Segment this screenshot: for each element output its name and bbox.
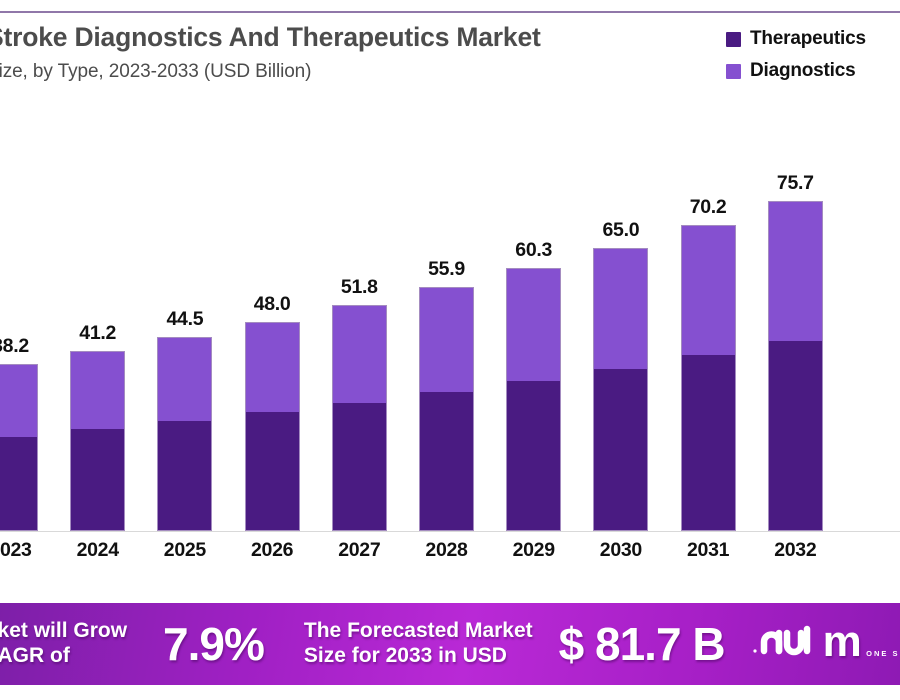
bar-value-label: 70.2	[690, 196, 727, 219]
bar-value-label: 48.0	[254, 293, 291, 316]
summary-banner: The Market will Grow At the CAGR of 7.9%…	[0, 603, 900, 685]
bar-value-label: 51.8	[341, 276, 378, 299]
bar-group[interactable]: 55.9	[419, 253, 474, 531]
cagr-caption: The Market will Grow At the CAGR of	[0, 619, 127, 669]
bar-segment-diagnostics[interactable]	[0, 365, 37, 436]
bar-stack[interactable]	[0, 364, 38, 531]
forecast-caption-line-1: The Forecasted Market	[304, 619, 533, 644]
bar-value-label: 65.0	[603, 219, 640, 242]
bar-stack[interactable]	[768, 201, 823, 531]
bar-segment-therapeutics[interactable]	[0, 437, 37, 530]
bar-stack[interactable]	[506, 268, 561, 531]
forecast-caption-line-2: Size for 2033 in USD	[304, 644, 533, 669]
brand-word-text: m	[823, 617, 862, 666]
x-axis-tick-2026: 2026	[245, 539, 300, 562]
x-axis-tick-2023: 2023	[0, 539, 38, 562]
infographic-root: Stroke Diagnostics And Therapeutics Mark…	[0, 0, 900, 700]
cagr-block: The Market will Grow At the CAGR of 7.9%	[0, 617, 264, 671]
bar-chart-plot-area: 38.241.244.548.051.855.960.365.070.275.7	[0, 140, 900, 532]
brand-wordmark: m ONE S	[823, 624, 900, 661]
bar-group[interactable]: 48.0	[245, 288, 300, 531]
chart-subtitle: Size, by Type, 2023-2033 (USD Billion)	[0, 61, 756, 83]
cagr-caption-line-2: At the CAGR of	[0, 644, 127, 669]
forecast-value: $ 81.7 B	[559, 617, 725, 671]
bar-segment-diagnostics[interactable]	[71, 352, 124, 429]
bar-stack[interactable]	[70, 351, 125, 531]
bar-stack[interactable]	[681, 225, 736, 531]
legend-item-therapeutics[interactable]: Therapeutics	[726, 28, 900, 50]
bar-group[interactable]: 38.2	[0, 330, 38, 531]
bar-segment-therapeutics[interactable]	[594, 369, 647, 530]
chart-legend: Therapeutics Diagnostics	[726, 28, 900, 92]
bar-value-label: 44.5	[167, 308, 204, 331]
bar-segment-diagnostics[interactable]	[682, 226, 735, 355]
bar-value-label: 38.2	[0, 335, 29, 358]
bar-group[interactable]: 70.2	[681, 191, 736, 531]
x-axis-tick-2031: 2031	[681, 539, 736, 562]
legend-label-therapeutics: Therapeutics	[750, 28, 866, 50]
bar-segment-therapeutics[interactable]	[682, 355, 735, 530]
bar-segment-diagnostics[interactable]	[333, 306, 386, 402]
bar-stack[interactable]	[332, 305, 387, 531]
x-axis-tick-2032: 2032	[768, 539, 823, 562]
brand-logo-icon	[751, 620, 813, 669]
bar-group[interactable]: 60.3	[506, 234, 561, 531]
x-axis-tick-2030: 2030	[593, 539, 648, 562]
bar-value-label: 41.2	[79, 322, 116, 345]
top-divider	[0, 11, 900, 13]
bar-group[interactable]: 65.0	[593, 214, 648, 531]
brand-logo[interactable]: m ONE S	[751, 620, 900, 669]
forecast-caption: The Forecasted Market Size for 2033 in U…	[304, 619, 533, 669]
chart-header: Stroke Diagnostics And Therapeutics Mark…	[0, 22, 756, 83]
x-axis-tick-2029: 2029	[506, 539, 561, 562]
x-axis-tick-2025: 2025	[157, 539, 212, 562]
bar-segment-therapeutics[interactable]	[246, 412, 299, 530]
forecast-block: The Forecasted Market Size for 2033 in U…	[264, 617, 725, 671]
brand-tagline: ONE S	[866, 649, 899, 658]
bar-group[interactable]: 41.2	[70, 317, 125, 531]
bar-stack[interactable]	[157, 337, 212, 531]
x-axis-line	[0, 531, 900, 532]
cagr-value: 7.9%	[163, 617, 264, 671]
bar-segment-diagnostics[interactable]	[507, 269, 560, 381]
x-axis-tick-2027: 2027	[332, 539, 387, 562]
legend-label-diagnostics: Diagnostics	[750, 60, 856, 82]
bar-segment-diagnostics[interactable]	[246, 323, 299, 412]
bar-segment-diagnostics[interactable]	[158, 338, 211, 421]
bar-stack[interactable]	[245, 322, 300, 531]
bar-segment-diagnostics[interactable]	[420, 288, 473, 392]
bar-segment-diagnostics[interactable]	[769, 202, 822, 341]
bar-segment-therapeutics[interactable]	[158, 421, 211, 530]
bar-segment-therapeutics[interactable]	[420, 392, 473, 530]
bar-segment-therapeutics[interactable]	[507, 381, 560, 530]
bar-value-label: 60.3	[515, 239, 552, 262]
x-axis-tick-2028: 2028	[419, 539, 474, 562]
bar-segment-therapeutics[interactable]	[71, 429, 124, 530]
bar-stack[interactable]	[419, 287, 474, 531]
legend-swatch-therapeutics-icon	[726, 32, 741, 47]
bar-value-label: 75.7	[777, 172, 814, 195]
legend-swatch-diagnostics-icon	[726, 64, 741, 79]
cagr-caption-line-1: The Market will Grow	[0, 619, 127, 644]
bar-group[interactable]: 51.8	[332, 271, 387, 531]
bar-group[interactable]: 44.5	[157, 303, 212, 531]
bar-segment-diagnostics[interactable]	[594, 249, 647, 369]
x-axis-tick-labels: 2023202420252026202720282029203020312032	[0, 533, 900, 573]
x-axis-tick-2024: 2024	[70, 539, 125, 562]
legend-item-diagnostics[interactable]: Diagnostics	[726, 60, 900, 82]
bar-stack[interactable]	[593, 248, 648, 531]
bar-segment-therapeutics[interactable]	[333, 403, 386, 530]
bar-group[interactable]: 75.7	[768, 167, 823, 531]
bar-value-label: 55.9	[428, 258, 465, 281]
page-title: Stroke Diagnostics And Therapeutics Mark…	[0, 22, 756, 52]
bar-segment-therapeutics[interactable]	[769, 341, 822, 530]
